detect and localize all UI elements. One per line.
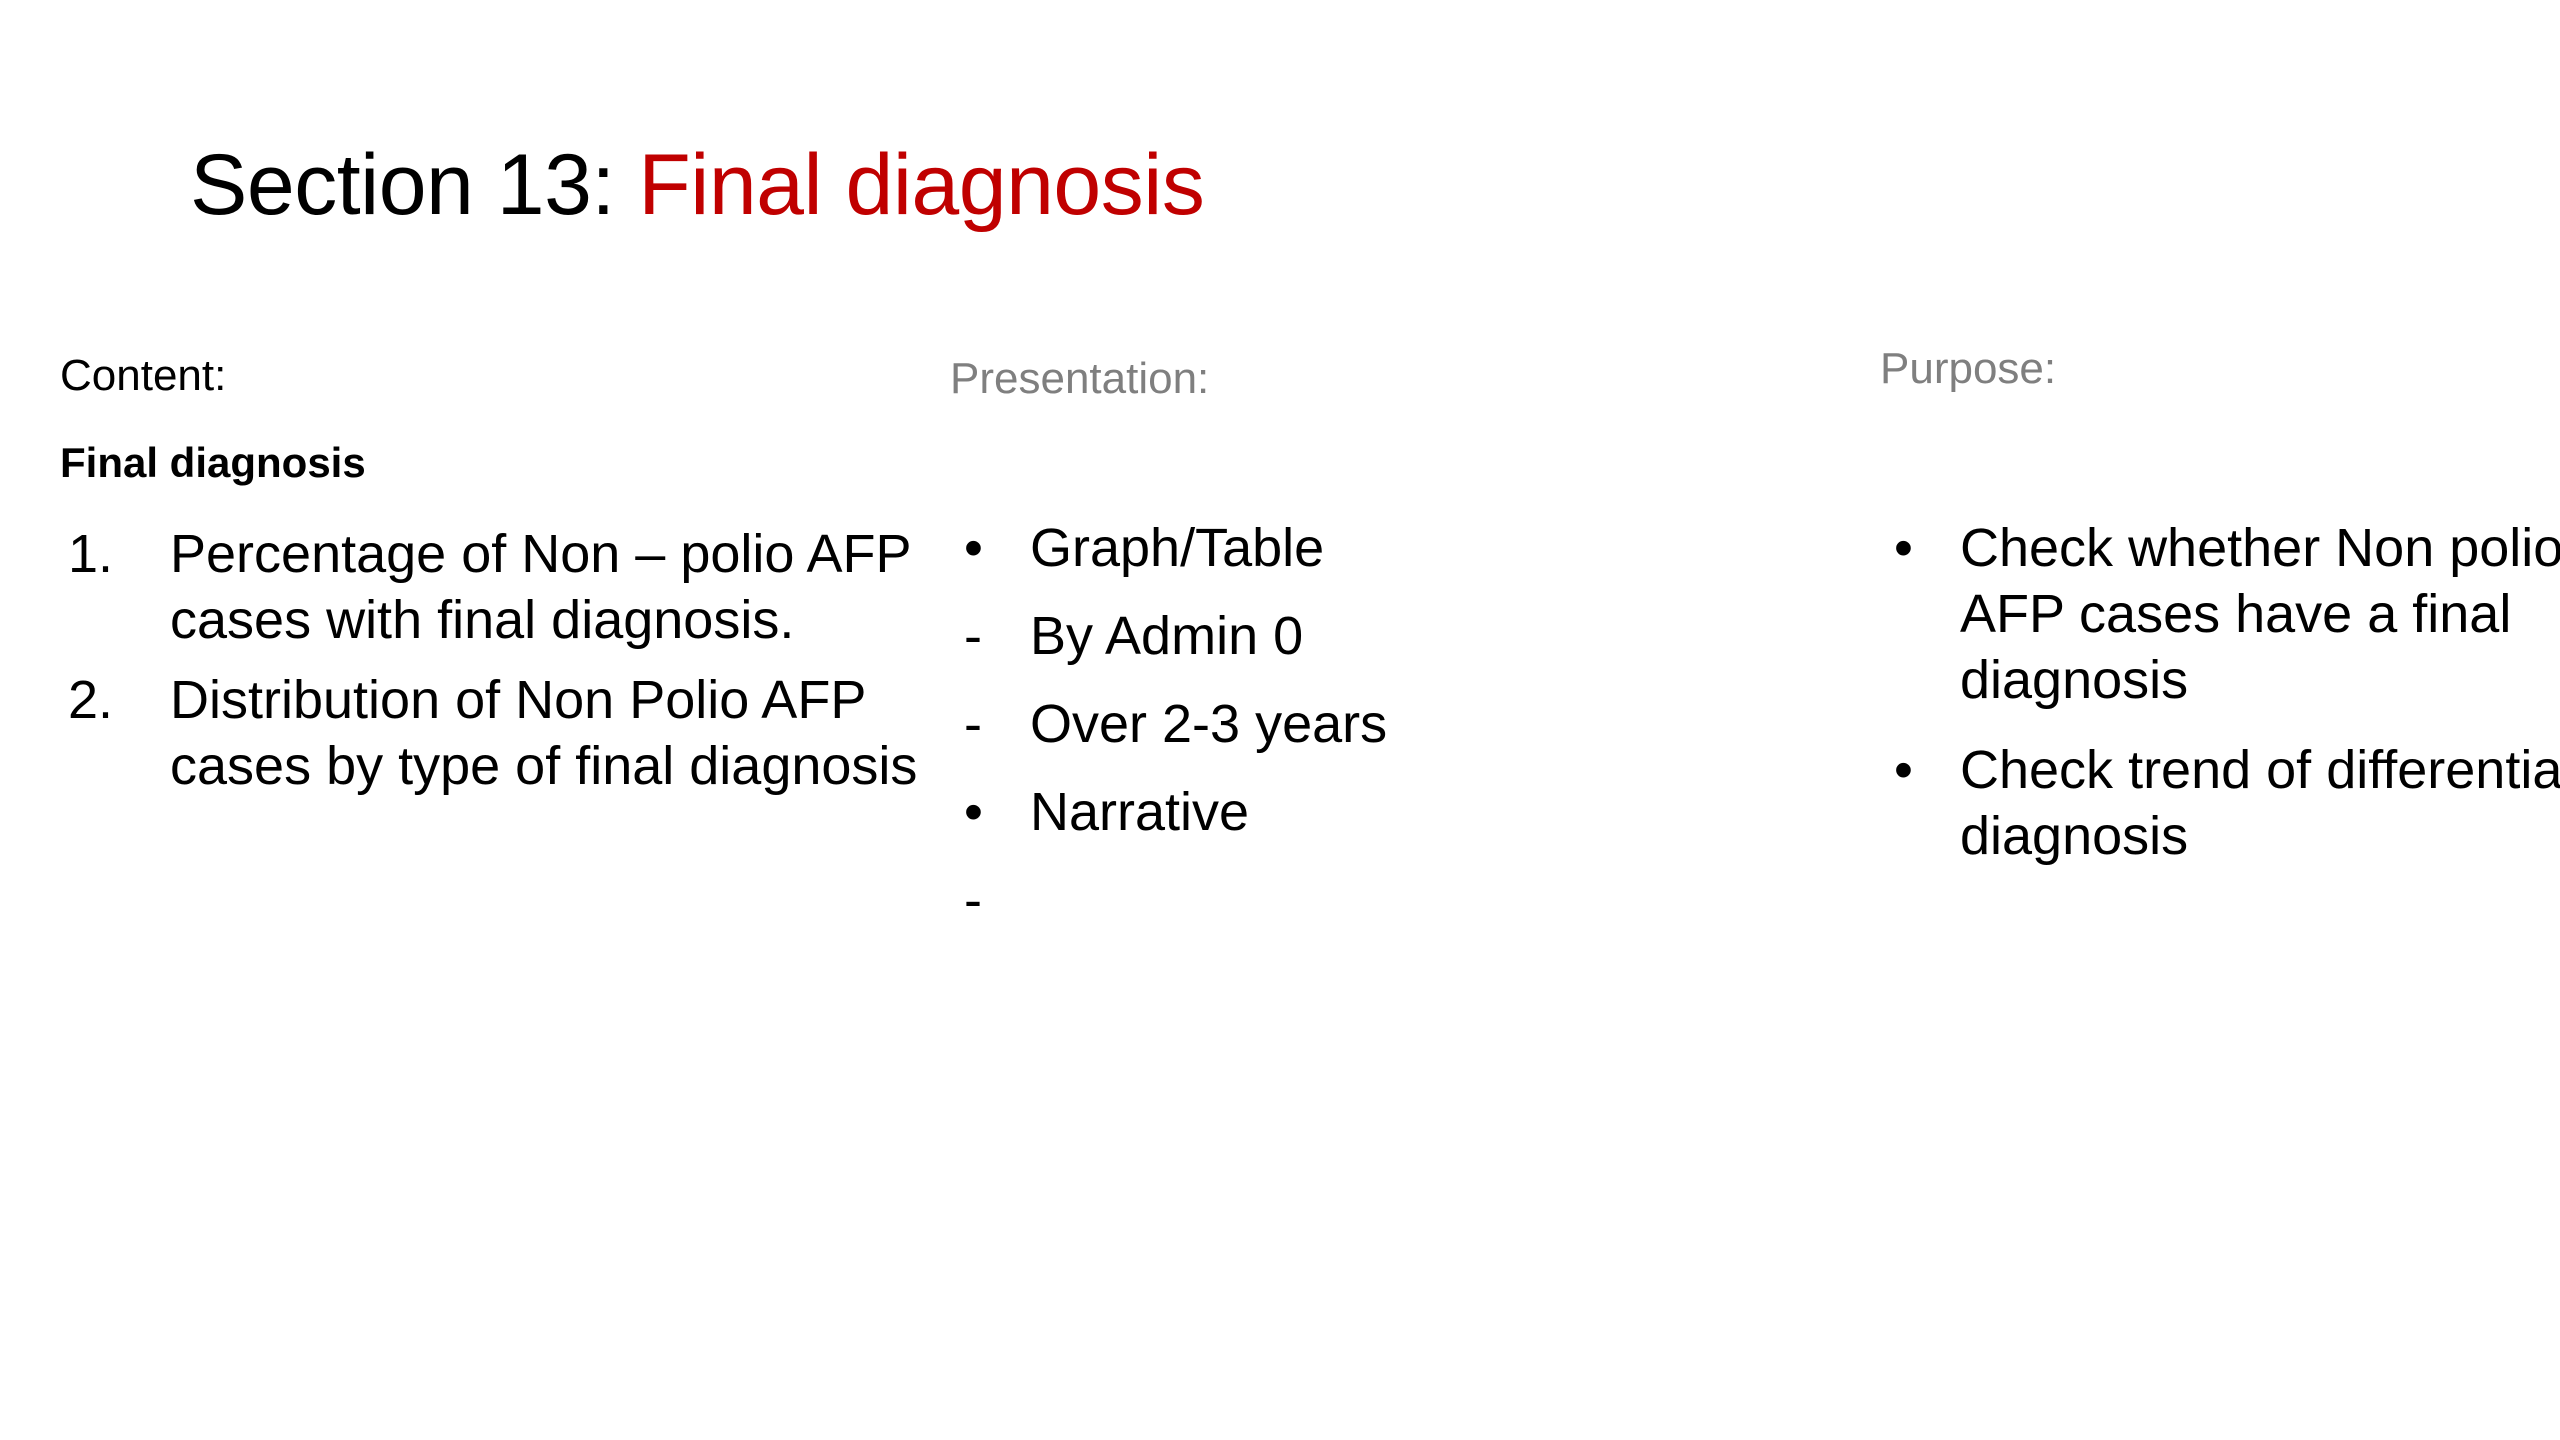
title-prefix: Section 13: bbox=[190, 137, 638, 233]
page-title: Section 13: Final diagnosis bbox=[190, 140, 1204, 230]
bullet-dot-icon: • bbox=[1894, 738, 1913, 804]
list-item-number: 2. bbox=[68, 668, 148, 734]
column-header-purpose: Purpose: bbox=[1880, 345, 2056, 393]
list-item: 1. Percentage of Non – polio AFP cases w… bbox=[60, 522, 920, 654]
list-item-number: 1. bbox=[68, 522, 148, 588]
purpose-bullet-list: • Check whether Non polio AFP cases have… bbox=[1880, 516, 2560, 893]
list-item: 2. Distribution of Non Polio AFP cases b… bbox=[60, 668, 920, 800]
list-item: • Check trend of differential diagnosis bbox=[1880, 738, 2560, 870]
bullet-dash-icon: - bbox=[964, 868, 982, 934]
content-subheading: Final diagnosis bbox=[60, 440, 366, 486]
list-item: • Check whether Non polio AFP cases have… bbox=[1880, 516, 2560, 714]
list-item-label: Check trend of differential diagnosis bbox=[1960, 740, 2560, 866]
title-accent: Final diagnosis bbox=[638, 137, 1204, 233]
list-item-label: Distribution of Non Polio AFP cases by t… bbox=[170, 670, 917, 796]
list-item: - bbox=[950, 868, 1770, 926]
column-header-presentation: Presentation: bbox=[950, 355, 1209, 403]
list-item-label: Check whether Non polio AFP cases have a… bbox=[1960, 518, 2560, 710]
bullet-dash-icon: - bbox=[964, 604, 982, 670]
slide: Section 13: Final diagnosis Content: Fin… bbox=[0, 0, 2560, 1440]
list-item: - By Admin 0 bbox=[950, 604, 1770, 670]
list-item-label: Percentage of Non – polio AFP cases with… bbox=[170, 524, 911, 650]
content-numbered-list: 1. Percentage of Non – polio AFP cases w… bbox=[60, 522, 920, 814]
list-item: • Narrative bbox=[950, 780, 1770, 846]
list-item: - Over 2-3 years bbox=[950, 692, 1770, 758]
list-item-label: Narrative bbox=[1030, 782, 1249, 842]
column-header-content: Content: bbox=[60, 352, 226, 400]
list-item-label: Graph/Table bbox=[1030, 518, 1324, 578]
list-item-label: Over 2-3 years bbox=[1030, 694, 1387, 754]
bullet-dot-icon: • bbox=[1894, 516, 1913, 582]
bullet-dash-icon: - bbox=[964, 692, 982, 758]
bullet-dot-icon: • bbox=[964, 780, 983, 846]
presentation-bullet-list: • Graph/Table - By Admin 0 - Over 2-3 ye… bbox=[950, 516, 1770, 948]
list-item-label: By Admin 0 bbox=[1030, 606, 1303, 666]
bullet-dot-icon: • bbox=[964, 516, 983, 582]
list-item: • Graph/Table bbox=[950, 516, 1770, 582]
